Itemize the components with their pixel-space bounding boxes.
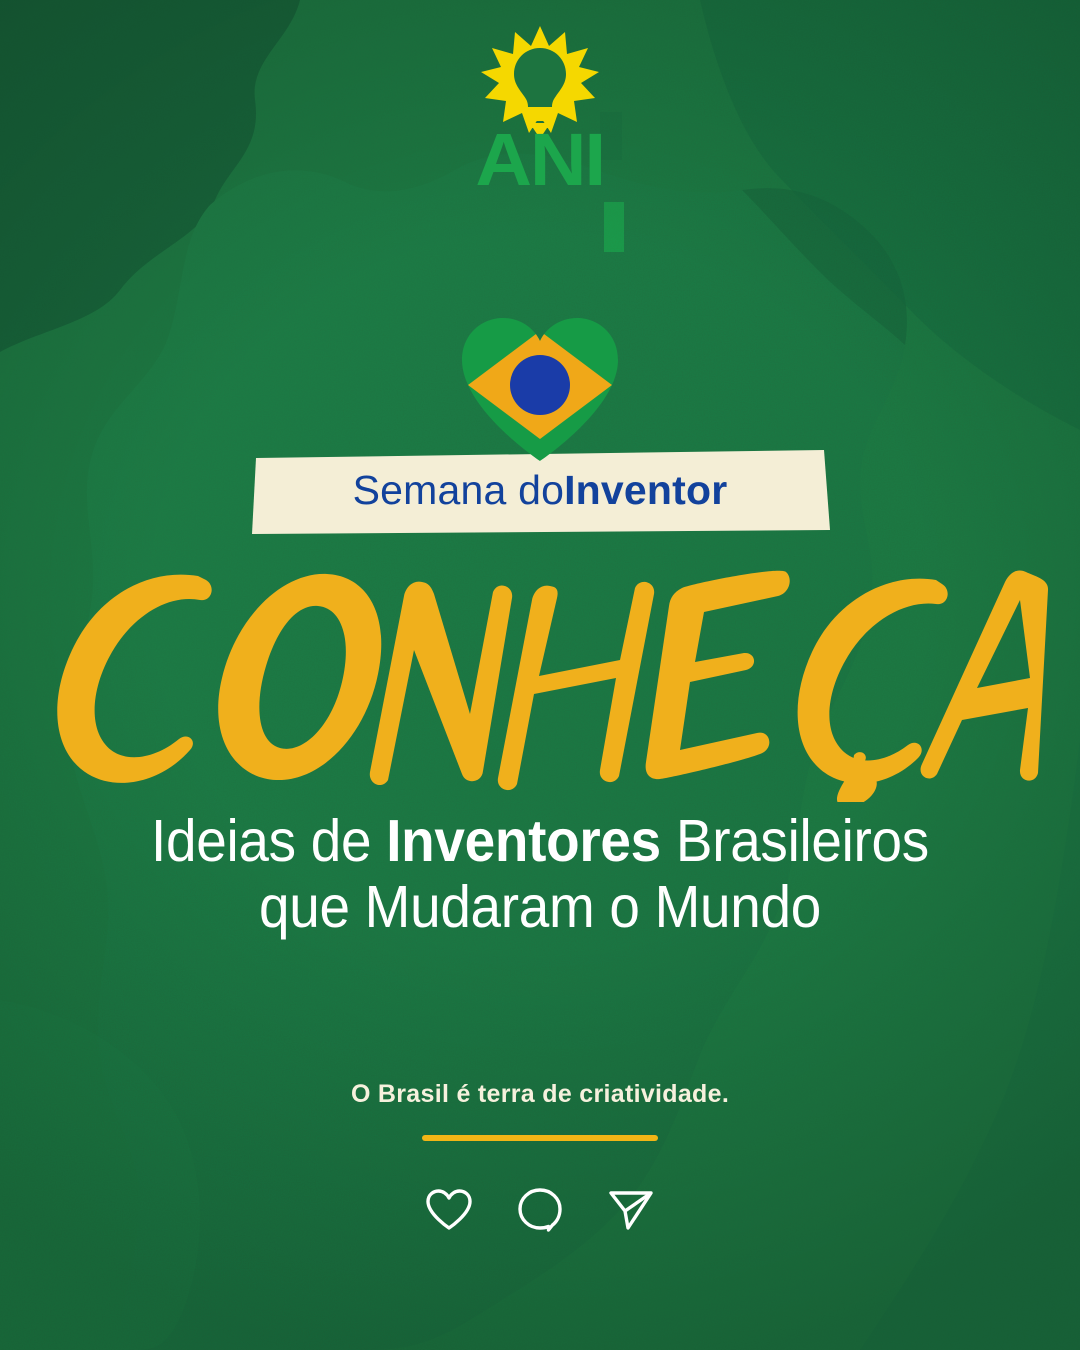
brand-wordmark: ANI [476, 130, 605, 191]
headline: CONHEÇA [0, 542, 1080, 802]
subtitle-prefix: Ideias de [151, 808, 386, 874]
share-send-icon[interactable] [607, 1187, 655, 1233]
banner-text-emphasis: Inventor [564, 467, 727, 514]
brazil-flag-heart-icon [456, 313, 624, 465]
subtitle: Ideias de Inventores Brasileiros que Mud… [122, 808, 959, 940]
brazil-flag-heart [456, 313, 624, 470]
social-action-row [425, 1187, 655, 1233]
headline-conheca-artwork: CONHEÇA [30, 542, 1050, 802]
like-heart-icon[interactable] [425, 1188, 473, 1232]
banner-text-prefix: Semana do [353, 467, 565, 514]
brand-logo: ANI [479, 24, 600, 191]
poster-content: ANI Semana d [0, 0, 1080, 1350]
tagline: O Brasil é terra de criatividade. [351, 1080, 729, 1109]
subtitle-emphasis: Inventores [386, 808, 661, 874]
subtitle-suffix: Brasileiros [661, 808, 929, 874]
comment-bubble-icon[interactable] [517, 1187, 563, 1233]
poster-canvas: ANI Semana d [0, 0, 1080, 1350]
subtitle-line-2: que Mudaram o Mundo [122, 874, 959, 940]
subtitle-line-1: Ideias de Inventores Brasileiros [122, 808, 959, 874]
divider-rule [422, 1135, 658, 1141]
